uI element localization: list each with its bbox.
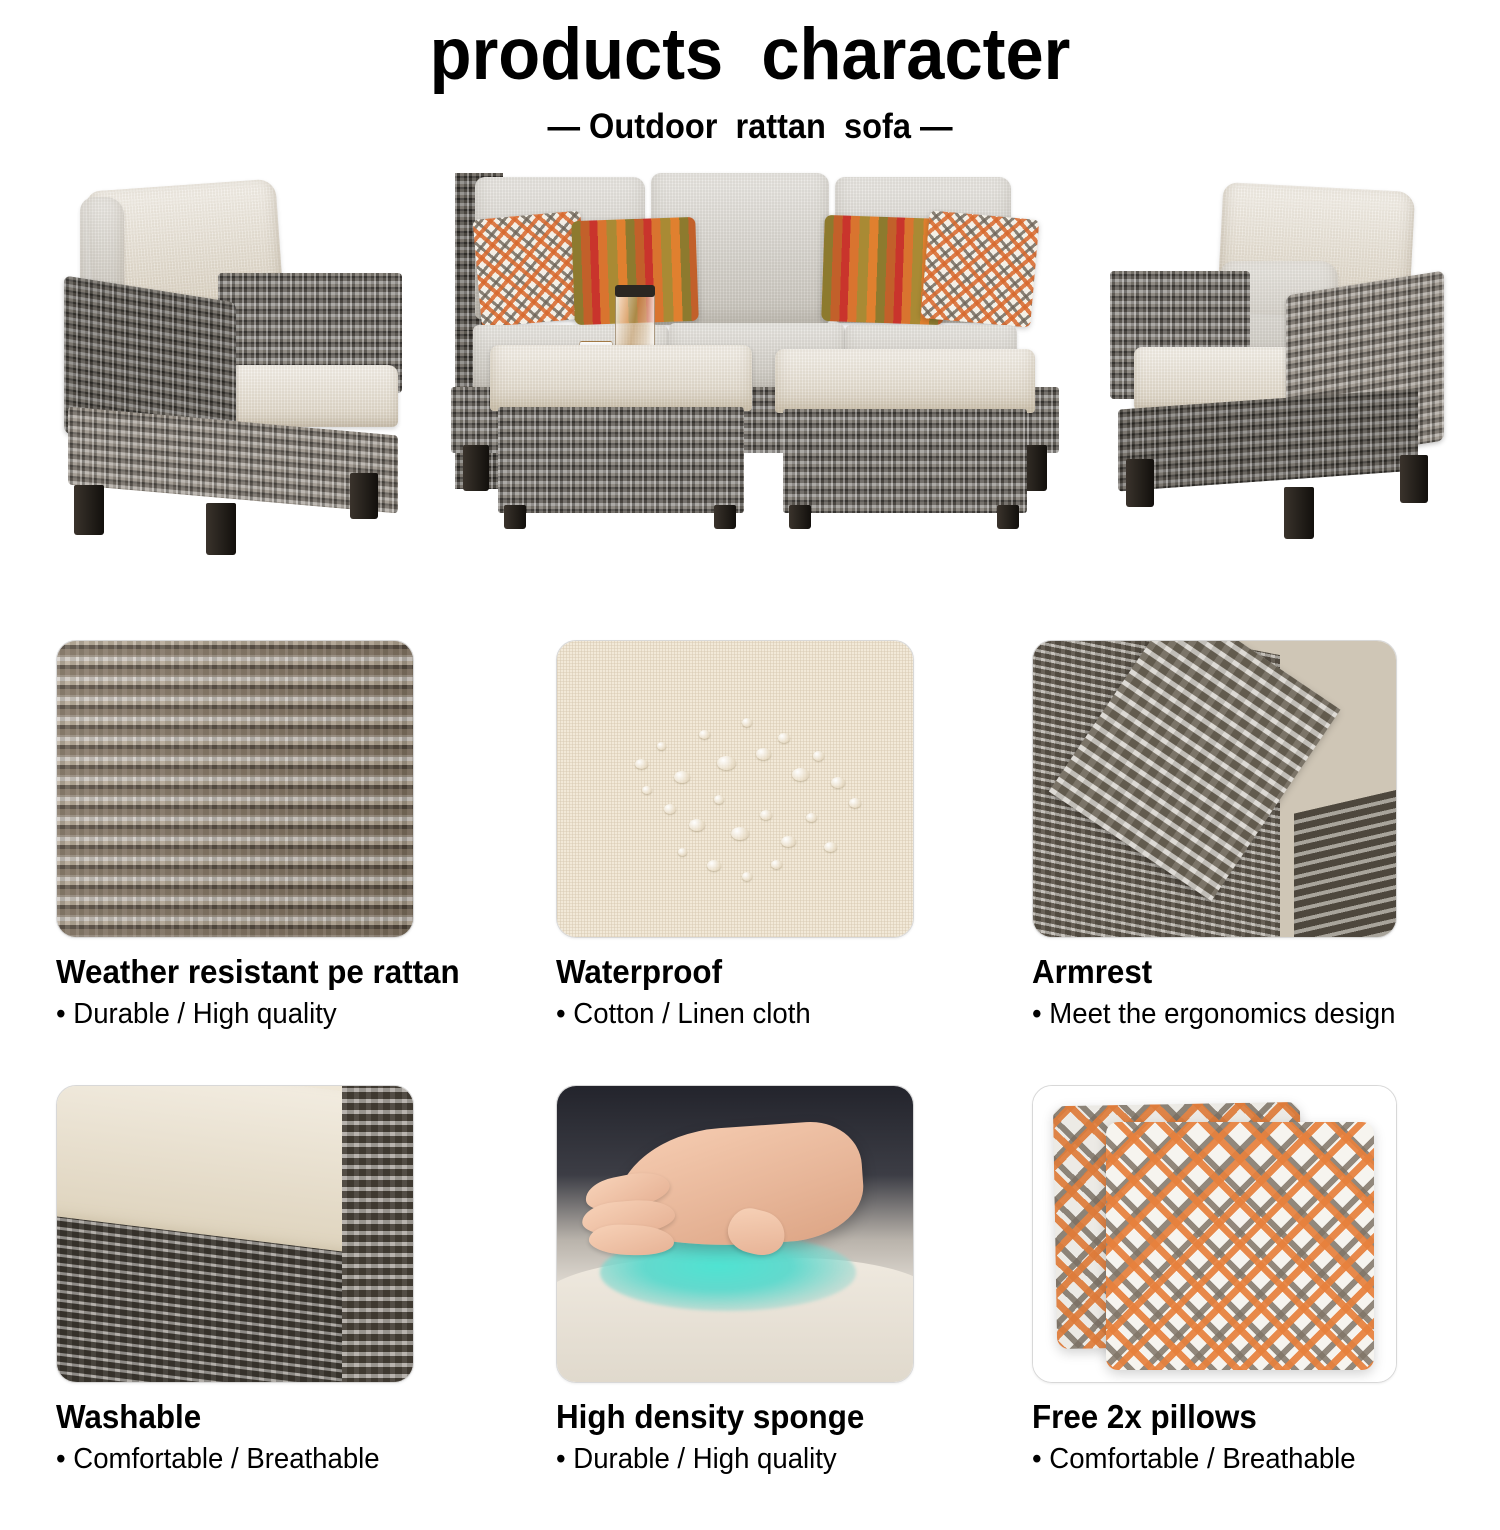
chair-leg-back-right xyxy=(350,473,378,519)
feature-thumbnail-waterproof-fabric-droplets[interactable] xyxy=(556,640,914,938)
feature-subtitle: • Comfortable / Breathable xyxy=(1032,1444,1488,1475)
sofa-leg-left xyxy=(463,445,489,491)
page-subtitle: — Outdoor rattan sofa — xyxy=(53,107,1448,147)
page-title: products character xyxy=(45,18,1455,91)
pillow-front xyxy=(1106,1122,1375,1371)
feature-thumbnail-armrest-closeup[interactable] xyxy=(1032,640,1397,938)
feature-row-2: Washable • Comfortable / Breathable High… xyxy=(0,1085,1500,1530)
chair-leg-front-left xyxy=(1126,459,1154,507)
armchair-left xyxy=(58,185,438,540)
feature-title: Weather resistant pe rattan xyxy=(56,954,512,990)
ottoman-leg-right xyxy=(997,505,1019,529)
chair-leg-front-right xyxy=(206,503,236,555)
chair-leg-back-right xyxy=(1400,455,1428,503)
pillow-pair xyxy=(1033,1086,1396,1382)
ottoman-frame xyxy=(498,407,744,513)
teapot-lid xyxy=(615,285,655,297)
armrest-weave xyxy=(1033,641,1396,937)
feature-card-waterproof[interactable]: Waterproof • Cotton / Linen cloth xyxy=(556,640,1036,1030)
hero-product-image xyxy=(0,165,1500,585)
chair-leg-front-left xyxy=(74,485,104,535)
feature-subtitle: • Cotton / Linen cloth xyxy=(556,999,1012,1030)
cushion-and-rattan xyxy=(57,1086,413,1382)
foam-demo xyxy=(557,1086,913,1382)
feature-subtitle: • Meet the ergonomics design xyxy=(1032,999,1488,1030)
feature-title: Free 2x pillows xyxy=(1032,1399,1488,1435)
ottoman-frame xyxy=(783,409,1027,513)
feature-subtitle: • Durable / High quality xyxy=(556,1444,1012,1475)
armchair-right xyxy=(1090,187,1460,539)
chair-leg-front-right xyxy=(1284,487,1314,539)
feature-card-weather-resistant-pe-rattan[interactable]: Weather resistant pe rattan • Durable / … xyxy=(56,640,536,1030)
ottoman-right xyxy=(775,349,1035,531)
seat-cushion xyxy=(230,365,398,427)
feature-thumbnail-memory-foam-hand-press[interactable] xyxy=(556,1085,914,1383)
page-header: products character — Outdoor rattan sofa… xyxy=(0,0,1500,147)
feature-thumbnail-washable-cushion-zipper[interactable] xyxy=(56,1085,414,1383)
linen-fabric xyxy=(557,641,913,937)
feature-grid: Weather resistant pe rattan • Durable / … xyxy=(0,640,1500,1530)
ottoman-cushion xyxy=(775,349,1035,413)
feature-card-washable[interactable]: Washable • Comfortable / Breathable xyxy=(56,1085,536,1475)
feature-thumbnail-two-diamond-pattern-pillows[interactable] xyxy=(1032,1085,1397,1383)
feature-card-armrest[interactable]: Armrest • Meet the ergonomics design xyxy=(1032,640,1500,1030)
feature-title: Armrest xyxy=(1032,954,1488,990)
feature-thumbnail-rattan-weave-swatch[interactable] xyxy=(56,640,414,938)
ottoman-left xyxy=(490,345,752,530)
feature-row-1: Weather resistant pe rattan • Durable / … xyxy=(0,640,1500,1085)
feature-title: Waterproof xyxy=(556,954,1012,990)
feature-title: Washable xyxy=(56,1399,512,1435)
ottoman-cushion xyxy=(490,345,752,411)
feature-card-high-density-sponge[interactable]: High density sponge • Durable / High qua… xyxy=(556,1085,1036,1475)
feature-subtitle: • Durable / High quality xyxy=(56,999,512,1030)
ottoman-leg-left xyxy=(504,505,526,529)
ottoman-leg-left xyxy=(789,505,811,529)
feature-subtitle: • Comfortable / Breathable xyxy=(56,1444,512,1475)
decor-pillow-diamond-right xyxy=(921,210,1040,327)
feature-card-free-2x-pillows[interactable]: Free 2x pillows • Comfortable / Breathab… xyxy=(1032,1085,1500,1475)
feature-title: High density sponge xyxy=(556,1399,1012,1435)
ottoman-leg-right xyxy=(714,505,736,529)
